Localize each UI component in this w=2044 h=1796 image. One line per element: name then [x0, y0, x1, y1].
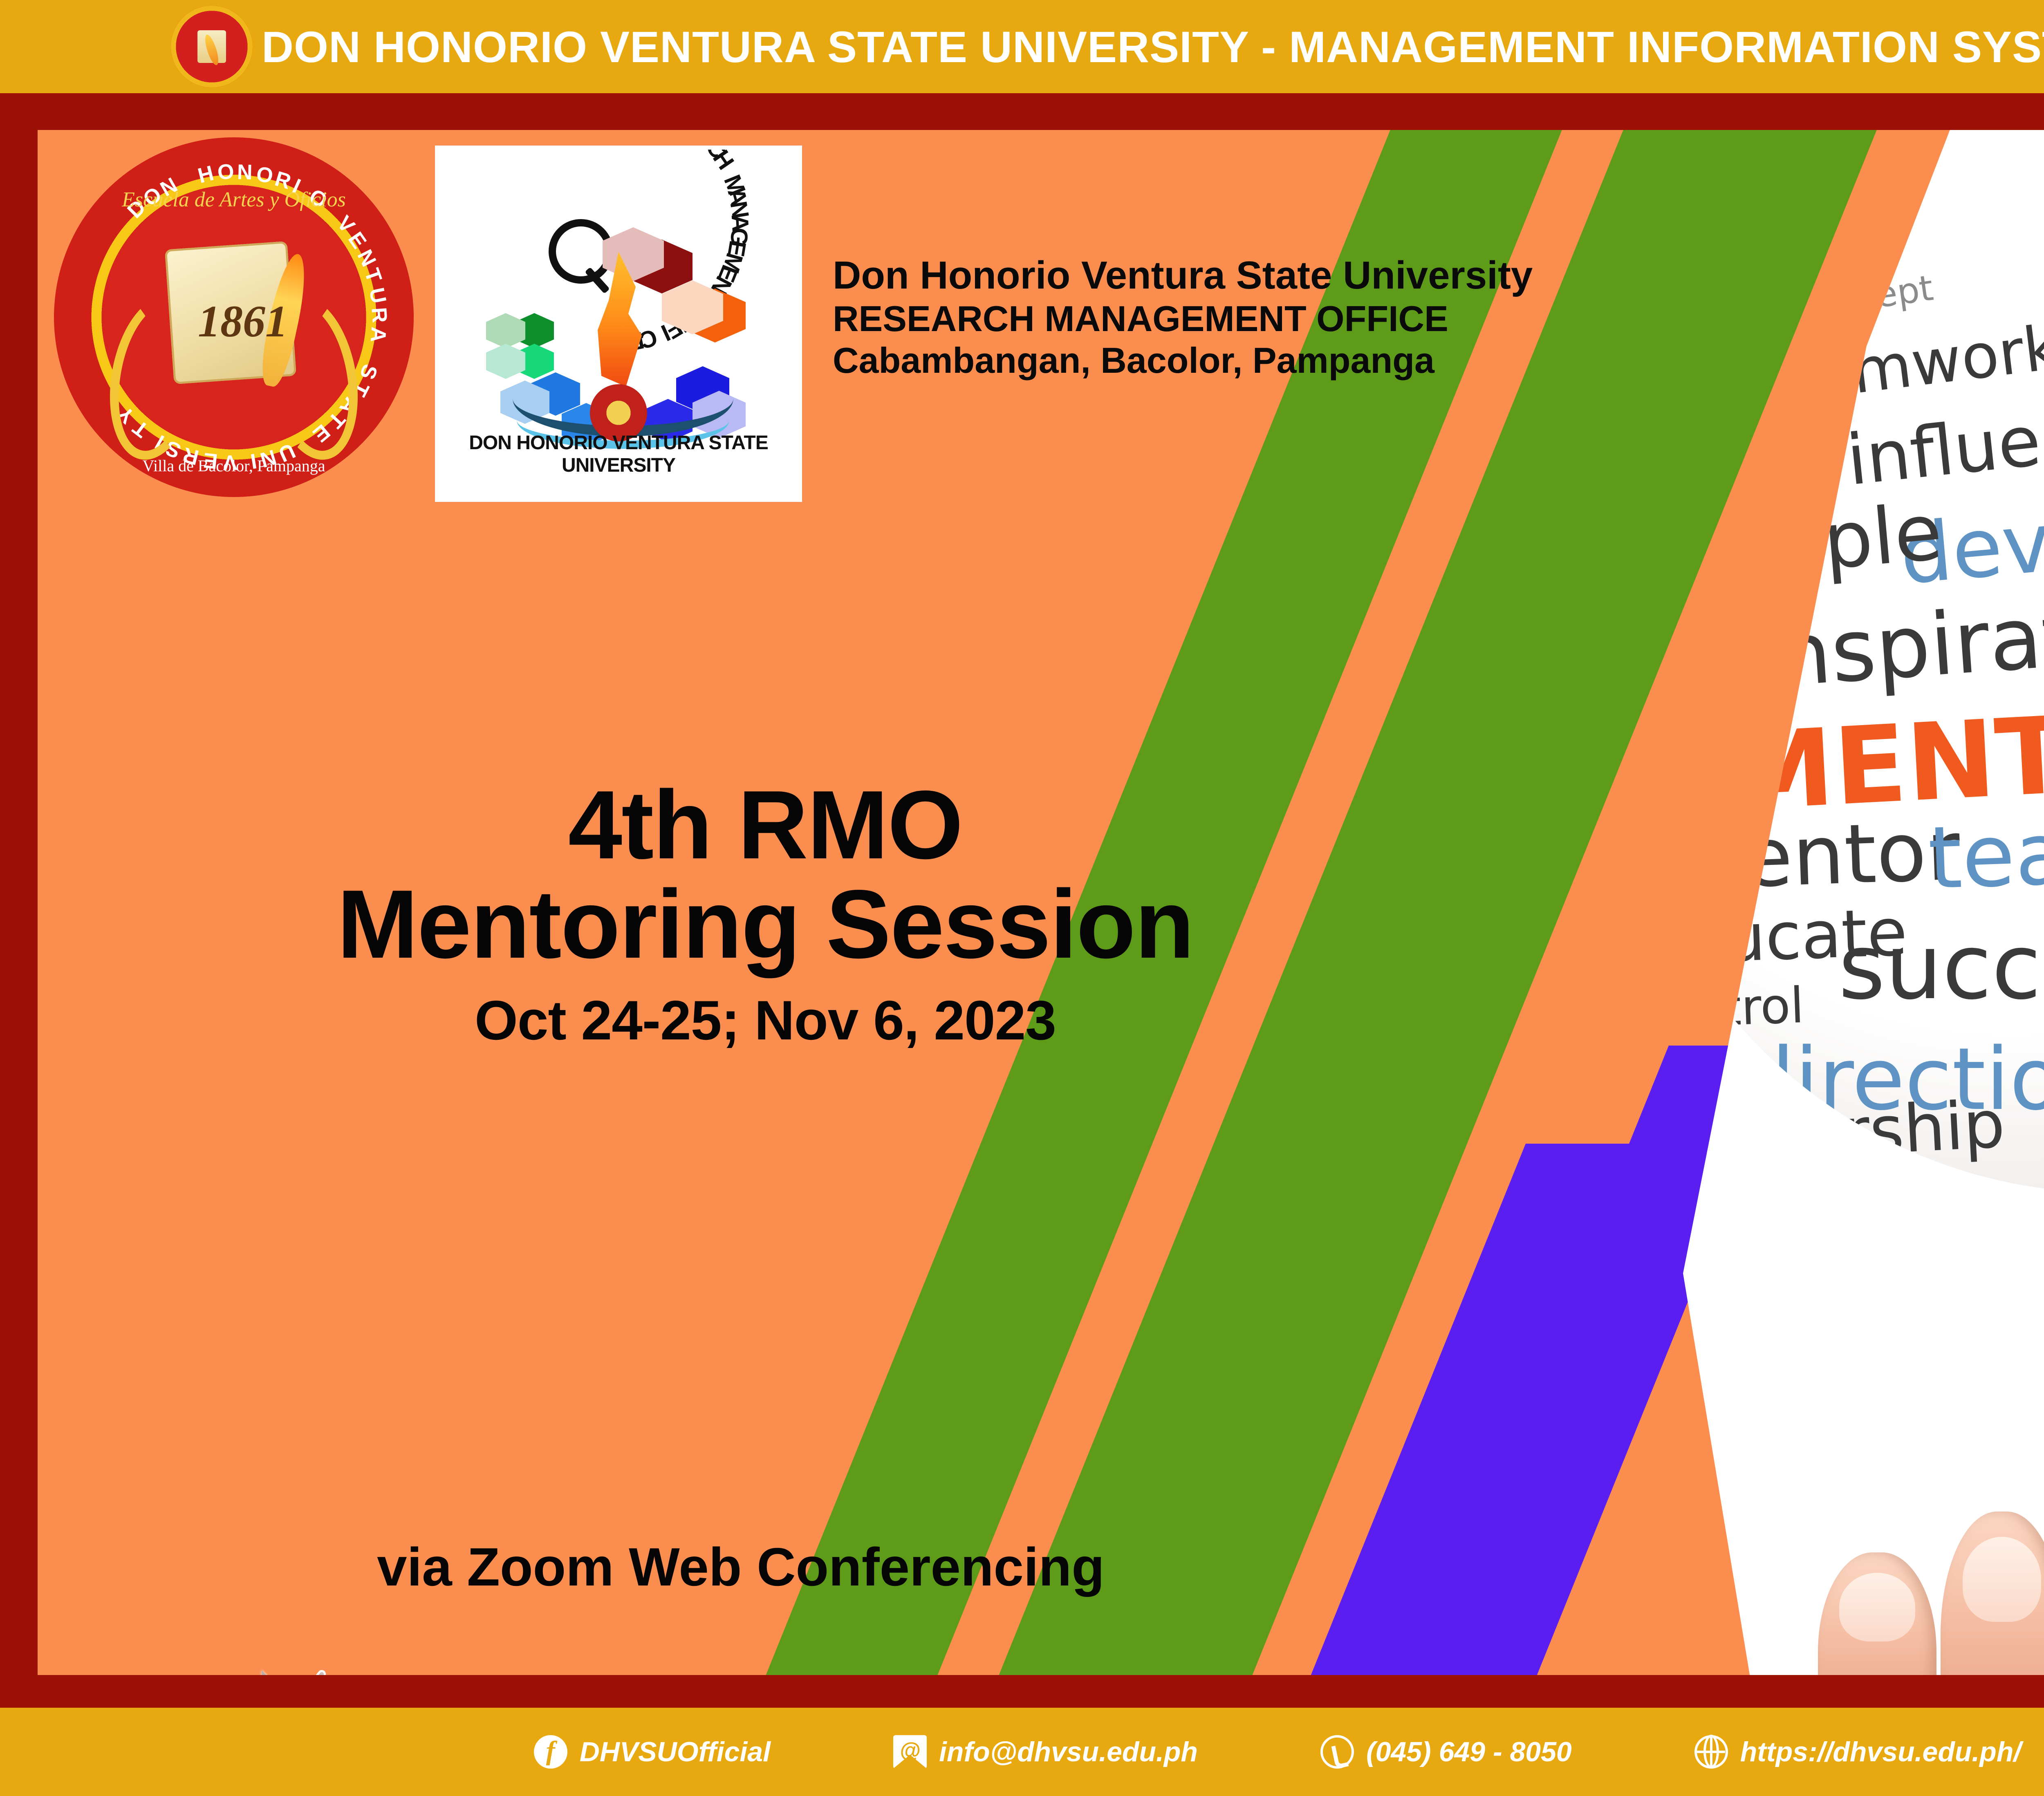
mentor-word-cloud-photo: concept teamwork influence develop peopl… — [1683, 130, 2044, 1675]
word-leadership: leadership — [1683, 1086, 2007, 1180]
fingernail-2 — [1963, 1537, 2041, 1622]
hex-green-pale — [486, 313, 525, 348]
audio-speaker-icon[interactable] — [226, 1667, 348, 1675]
word-concept: concept — [1791, 268, 1936, 328]
event-venue: via Zoom Web Conferencing — [38, 1536, 1444, 1598]
top-banner: DON HONORIO VENTURA STATE UNIVERSITY - M… — [0, 0, 2044, 93]
footer-facebook-label: DHVSUOfficial — [580, 1736, 771, 1768]
top-banner-title: DON HONORIO VENTURA STATE UNIVERSITY - M… — [262, 0, 2044, 93]
rmo-logo: RESEARCH MANAGEMENT OFFICE DON HONORIO V… — [435, 146, 802, 502]
footer-facebook[interactable]: DHVSUOfficial — [534, 1735, 771, 1769]
org-line-address: Cabambangan, Bacolor, Pampanga — [833, 340, 1533, 381]
finger-2 — [1941, 1512, 2044, 1675]
event-dates: Oct 24-25; Nov 6, 2023 — [38, 988, 1493, 1052]
globe-icon — [1694, 1735, 1728, 1769]
org-line-university: Don Honorio Ventura State University — [833, 253, 1533, 298]
word-sphere: concept teamwork influence develop peopl… — [1683, 212, 2044, 1193]
footer-website-label: https://dhvsu.edu.ph/ — [1740, 1736, 2022, 1768]
footer-phone[interactable]: (045) 649 - 8050 — [1320, 1735, 1572, 1769]
speaker-cone — [262, 1670, 301, 1675]
org-line-office: RESEARCH MANAGEMENT OFFICE — [833, 298, 1533, 340]
finger-1 — [1818, 1552, 1936, 1675]
rmo-university-label: DON HONORIO VENTURA STATE UNIVERSITY — [439, 432, 798, 477]
word-team: team — [1927, 801, 2044, 909]
word-teamwork: teamwork — [1749, 312, 2044, 420]
footer-website[interactable]: https://dhvsu.edu.ph/ — [1694, 1735, 2022, 1769]
organization-header: Don Honorio Ventura State University RES… — [833, 253, 1533, 382]
seal-motto: Escuela de Artes y Oficios — [122, 188, 346, 212]
university-seal-large: DON HONORIO VENTURA STATE UNIVERSITY Esc… — [54, 137, 414, 497]
speaker-wave-1 — [307, 1668, 327, 1675]
event-title-block: 4th RMO Mentoring Session Oct 24-25; Nov… — [38, 776, 1493, 1052]
facebook-icon — [534, 1735, 567, 1769]
globe-ellipse — [1703, 1735, 1719, 1768]
hand-holding-sphere — [1785, 1356, 2044, 1675]
email-icon — [893, 1735, 927, 1769]
fingernail-1 — [1839, 1573, 1915, 1641]
footer-phone-label: (045) 649 - 8050 — [1366, 1736, 1572, 1768]
footer-email[interactable]: info@dhvsu.edu.ph — [893, 1735, 1198, 1769]
seal-founding-year: 1861 — [198, 296, 288, 347]
footer-email-label: info@dhvsu.edu.ph — [939, 1736, 1198, 1768]
word-success: success — [1838, 915, 2044, 1019]
photo-clip-area: concept teamwork influence develop peopl… — [1683, 130, 2044, 1675]
presentation-slide: concept teamwork influence develop peopl… — [38, 130, 2044, 1675]
contact-footer: DHVSUOfficial info@dhvsu.edu.ph (045) 64… — [0, 1708, 2044, 1796]
seal-location: Villa de Bacolor, Pampanga — [143, 456, 325, 475]
word-inspiration: inspiration — [1750, 576, 2044, 708]
phone-icon — [1320, 1735, 1354, 1769]
word-mentor: mentor — [1683, 803, 1961, 909]
university-seal-icon — [171, 6, 253, 87]
event-title-line1: 4th RMO — [38, 776, 1493, 875]
event-title-line2: Mentoring Session — [38, 875, 1493, 974]
